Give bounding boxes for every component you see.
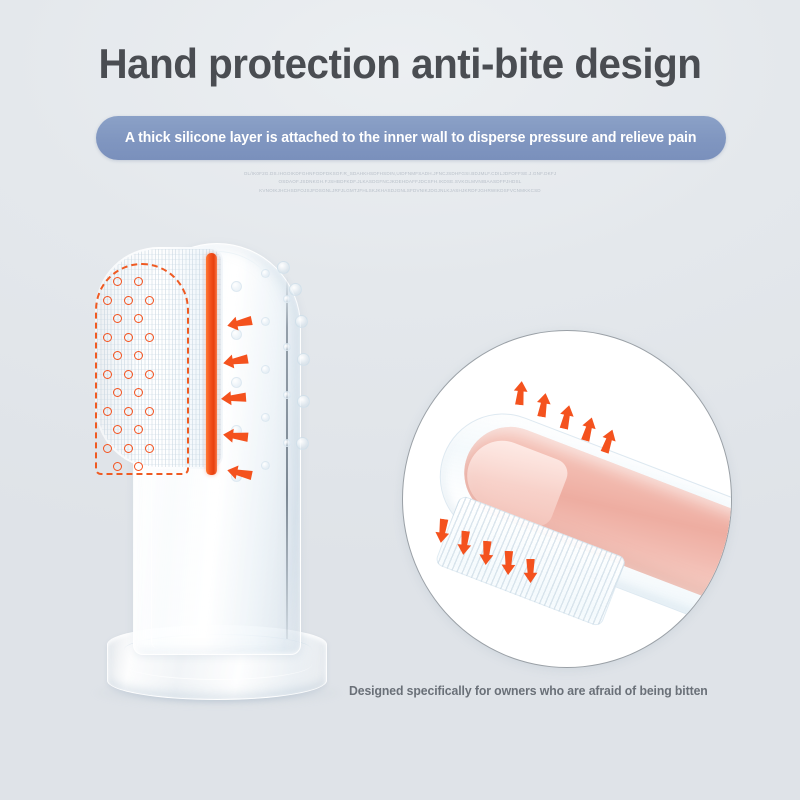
- silicone-dot: [103, 407, 112, 416]
- inset-caption: Designed specifically for owners who are…: [349, 684, 708, 698]
- silicone-dot: [134, 314, 143, 323]
- subtitle-banner-text: A thick silicone layer is attached to th…: [125, 130, 697, 146]
- silicone-dot: [134, 351, 143, 360]
- rim-nub: [297, 353, 310, 366]
- silicone-dot: [103, 370, 112, 379]
- silicone-dot: [113, 388, 122, 397]
- pressure-arrow: [598, 427, 620, 455]
- silicone-dot: [145, 296, 154, 305]
- silicone-dot: [103, 444, 112, 453]
- silicone-dot: [134, 462, 143, 471]
- pressure-arrow: [534, 392, 553, 418]
- silicone-dot: [134, 425, 143, 434]
- pressure-arrow: [456, 530, 473, 555]
- inset-detail-circle: [402, 330, 732, 668]
- sleeve-dimple: [283, 343, 291, 351]
- sleeve-dimple: [283, 391, 291, 399]
- silicone-dot: [124, 370, 133, 379]
- subtitle-banner: A thick silicone layer is attached to th…: [96, 116, 726, 160]
- sleeve-dimple: [261, 317, 270, 326]
- pressure-arrow: [556, 404, 576, 431]
- rim-nub: [277, 261, 290, 274]
- silicone-dot: [145, 407, 154, 416]
- silicone-layer-stripe: [206, 253, 217, 475]
- rim-nub: [295, 315, 308, 328]
- silicone-dot: [134, 277, 143, 286]
- silicone-dot: [103, 333, 112, 342]
- silicone-dot: [113, 314, 122, 323]
- pressure-arrow: [501, 551, 517, 576]
- sleeve-dimple: [231, 377, 242, 388]
- sleeve-mold-seam: [286, 277, 288, 639]
- sleeve-dimple: [283, 295, 291, 303]
- silicone-dot: [145, 444, 154, 453]
- silicone-dot: [113, 277, 122, 286]
- silicone-dot: [145, 370, 154, 379]
- page-title: Hand protection anti-bite design: [16, 40, 784, 88]
- pressure-arrow: [220, 389, 247, 407]
- sleeve-dimple: [261, 269, 270, 278]
- pressure-arrow: [578, 415, 599, 442]
- silicone-layer-callout-outline: [95, 263, 189, 475]
- silicone-dot: [124, 333, 133, 342]
- sleeve-dimple: [261, 365, 270, 374]
- sleeve-dimple: [283, 439, 291, 447]
- silicone-dot: [124, 407, 133, 416]
- silicone-dot: [113, 425, 122, 434]
- decorative-micro-text: OL/IK0F2G.DS.IHGOIKDFGHNFODFDKSOF.R_SDAH…: [0, 170, 800, 195]
- silicone-dot: [113, 351, 122, 360]
- silicone-dot: [103, 296, 112, 305]
- sleeve-dimple: [261, 413, 270, 422]
- silicone-dot: [113, 462, 122, 471]
- pressure-arrow: [523, 559, 538, 583]
- product-image-main: [55, 225, 375, 770]
- micro-text-line-3: KVNOIKJHCHSDFOJSJFDSGNLJRFJLGMTJFHLSKJKH…: [0, 187, 800, 195]
- sleeve-dimple: [261, 461, 270, 470]
- rim-nub: [297, 395, 310, 408]
- silicone-dot: [134, 388, 143, 397]
- pressure-arrow: [478, 541, 495, 566]
- silicone-dot: [124, 444, 133, 453]
- rim-nub: [289, 283, 302, 296]
- silicone-dot: [124, 296, 133, 305]
- micro-text-line-1: OL/IK0F2G.DS.IHGOIKDFGHNFODFDKSOF.R_SDAH…: [0, 170, 800, 178]
- silicone-dot: [145, 333, 154, 342]
- pressure-arrow: [512, 380, 529, 405]
- rim-nub: [296, 437, 309, 450]
- micro-text-line-2: OSDAOF.JSDNKGH.FJSHBDFKDF.JLKASDGFNCJKDE…: [0, 178, 800, 186]
- sleeve-dimple: [231, 281, 242, 292]
- pressure-arrow: [222, 427, 250, 446]
